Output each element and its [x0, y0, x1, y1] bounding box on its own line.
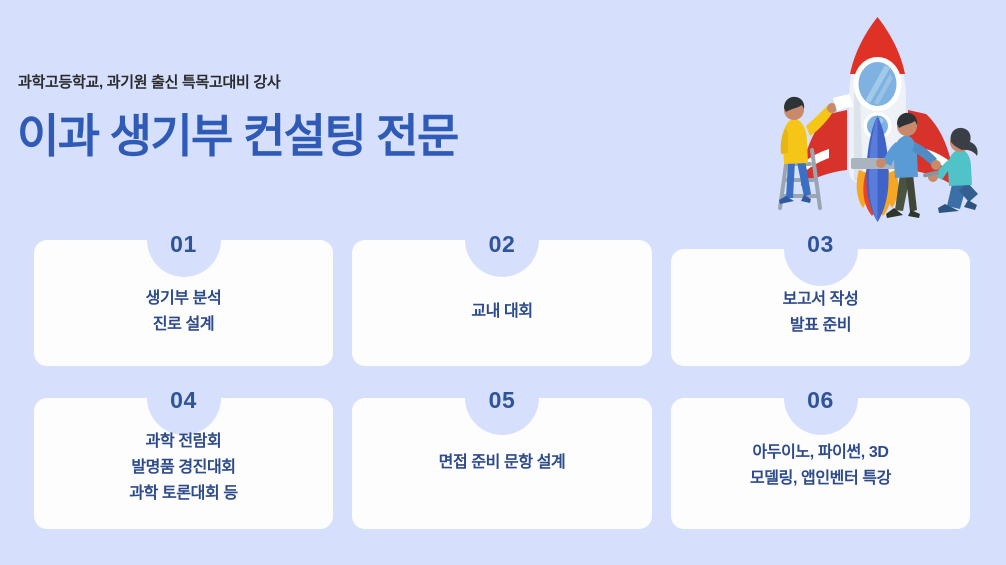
card-number: 01: [170, 231, 197, 258]
card-text: 교내 대회: [352, 299, 652, 325]
card-text: 보고서 작성 발표 준비: [671, 287, 970, 339]
card-text: 생기부 분석 진로 설계: [34, 286, 333, 338]
card-text: 면접 준비 문항 설계: [352, 450, 652, 476]
rocket-main-window: [854, 57, 902, 111]
page-title: 이과 생기부 컨설팅 전문: [17, 113, 458, 159]
card-05[interactable]: 05 면접 준비 문항 설계: [352, 398, 652, 529]
card-number: 05: [489, 387, 516, 414]
card-number: 04: [170, 387, 197, 414]
slide-canvas: 과학고등학교, 과기원 출신 특목고대비 강사 이과 생기부 컨설팅 전문: [0, 0, 1006, 565]
card-number: 03: [807, 231, 834, 258]
card-04[interactable]: 04 과학 전람회 발명품 경진대회 과학 토론대회 등: [34, 398, 333, 529]
rocket-teamwork-illustration: [755, 2, 1000, 224]
card-text: 아두이노, 파이썬, 3D 모델링, 앱인벤터 특강: [671, 440, 970, 492]
card-02[interactable]: 02 교내 대회: [352, 240, 652, 366]
card-06[interactable]: 06 아두이노, 파이썬, 3D 모델링, 앱인벤터 특강: [671, 398, 970, 529]
card-number: 02: [489, 231, 516, 258]
card-01[interactable]: 01 생기부 분석 진로 설계: [34, 240, 333, 366]
card-03[interactable]: 03 보고서 작성 발표 준비: [671, 249, 970, 366]
card-text: 과학 전람회 발명품 경진대회 과학 토론대회 등: [34, 429, 333, 507]
card-number: 06: [807, 387, 834, 414]
page-subtitle: 과학고등학교, 과기원 출신 특목고대비 강사: [18, 71, 280, 92]
